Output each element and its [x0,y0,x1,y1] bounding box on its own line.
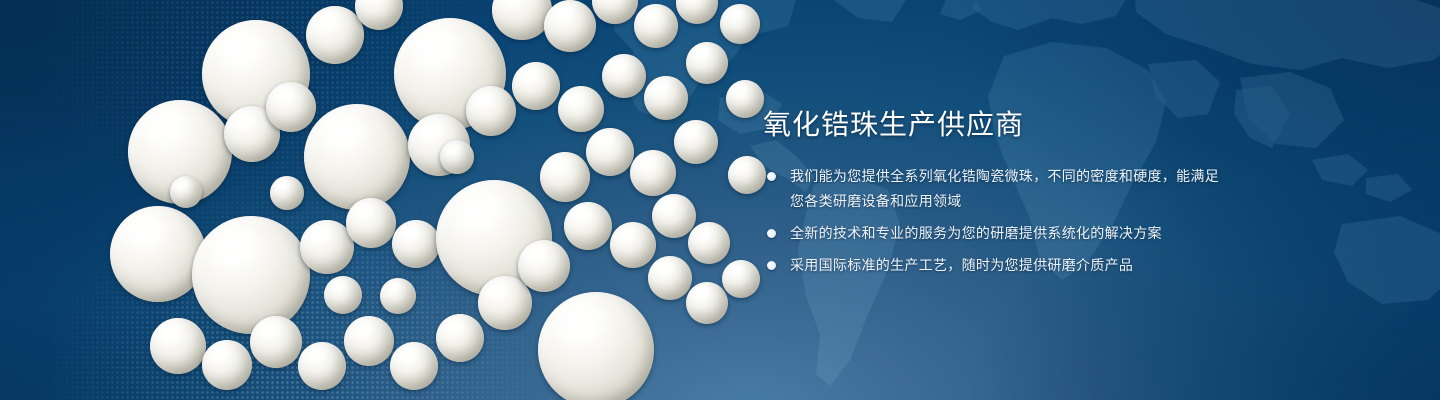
banner-bullet-text: 全新的技术和专业的服务为您的研磨提供系统化的解决方案 [790,225,1162,241]
banner-copy: 氧化锆珠生产供应商 我们能为您提供全系列氧化锆陶瓷微珠，不同的密度和硬度，能满足… [763,108,1233,278]
banner-bullet-item: 我们能为您提供全系列氧化锆陶瓷微珠，不同的密度和硬度，能满足您各类研磨设备和应用… [763,164,1233,214]
bullet-dot-icon [767,261,776,270]
bullet-dot-icon [767,172,776,181]
banner-bullet-item: 全新的技术和专业的服务为您的研磨提供系统化的解决方案 [763,221,1233,246]
banner-bullet-list: 我们能为您提供全系列氧化锆陶瓷微珠，不同的密度和硬度，能满足您各类研磨设备和应用… [763,164,1233,278]
banner-bullet-text: 我们能为您提供全系列氧化锆陶瓷微珠，不同的密度和硬度，能满足您各类研磨设备和应用… [790,168,1219,209]
hero-banner: 氧化锆珠生产供应商 我们能为您提供全系列氧化锆陶瓷微珠，不同的密度和硬度，能满足… [0,0,1440,400]
bullet-dot-icon [767,229,776,238]
banner-headline: 氧化锆珠生产供应商 [763,108,1233,142]
banner-bullet-text: 采用国际标准的生产工艺，随时为您提供研磨介质产品 [790,257,1133,273]
banner-bullet-item: 采用国际标准的生产工艺，随时为您提供研磨介质产品 [763,253,1233,278]
